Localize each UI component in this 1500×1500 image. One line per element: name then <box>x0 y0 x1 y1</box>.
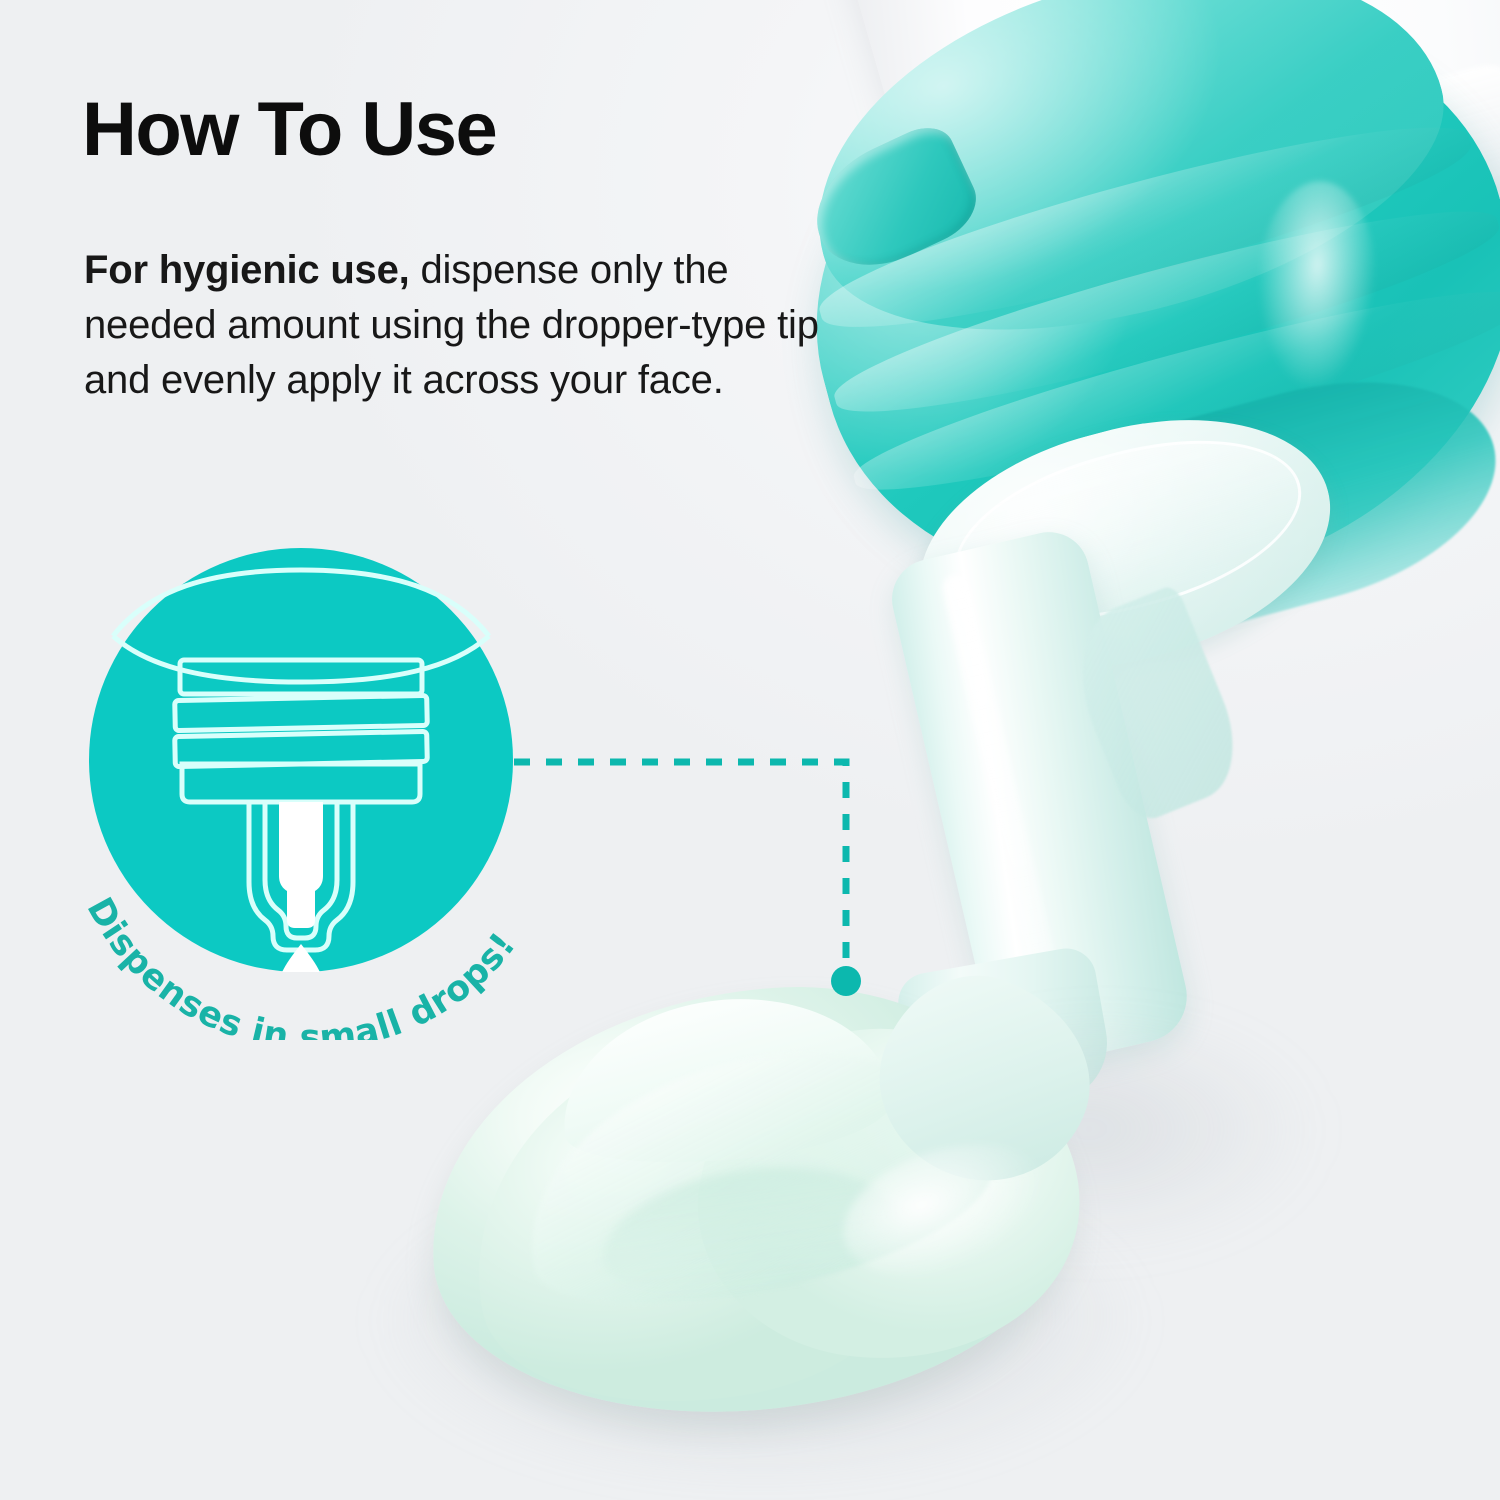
callout-endpoint-dot <box>831 966 861 996</box>
how-to-use-panel: How To Use For hygienic use, dispense on… <box>0 0 1500 1500</box>
instruction-paragraph: For hygienic use, dispense only the need… <box>84 243 824 409</box>
icon-cap-dome <box>113 570 489 636</box>
badge-caption-text: Dispenses in small drops! <box>79 891 524 1040</box>
instruction-lead: For hygienic use, <box>84 248 410 292</box>
page-title: How To Use <box>82 92 496 168</box>
badge-caption: Dispenses in small drops! <box>60 640 580 1040</box>
